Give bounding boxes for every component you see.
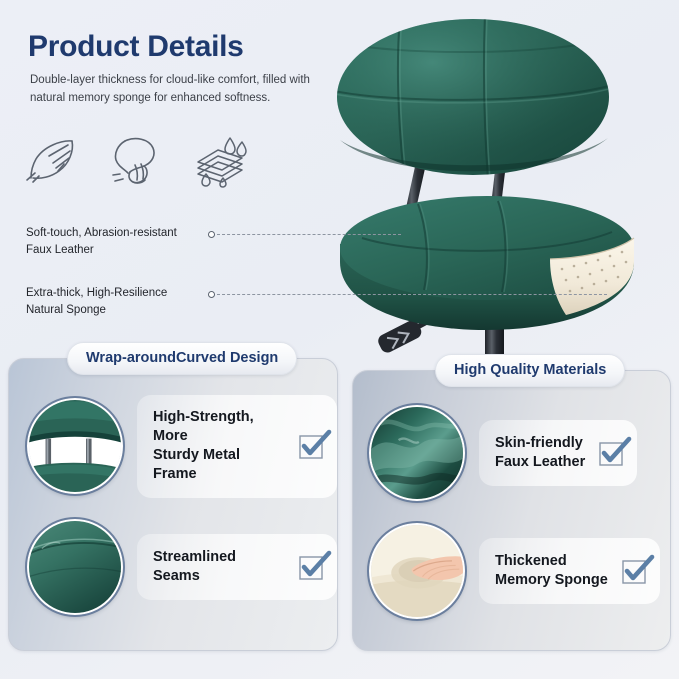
feature-line-2: Memory Sponge [495, 572, 608, 588]
checkmark-icon [298, 552, 328, 582]
feature-line-1: Thickened [495, 553, 567, 569]
panel-title-wrap-around: Wrap-aroundCurved Design [67, 342, 297, 375]
product-photo-chair [300, 12, 679, 372]
wipe-clean-icon [104, 132, 166, 188]
feature-label-faux-leather: Skin-friendly Faux Leather [479, 420, 637, 486]
page-subtitle: Double-layer thickness for cloud-like co… [30, 72, 320, 108]
natural-sponge-callout: Extra-thick, High-Resilience Natural Spo… [26, 285, 216, 320]
checkmark-icon [298, 431, 328, 461]
feature-line-2: Sturdy Metal Frame [153, 447, 240, 482]
feature-label-memory-sponge: Thickened Memory Sponge [479, 538, 660, 604]
feature-icon-row [22, 132, 262, 188]
metal-frame-photo [27, 398, 123, 494]
leather-texture-photo [369, 405, 465, 501]
water-resistant-layers-icon [190, 132, 252, 188]
feature-line-1: High-Strength, More [153, 409, 254, 444]
feature-label-metal-frame: High-Strength, More Sturdy Metal Frame [137, 395, 337, 498]
panel-title-high-quality-materials: High Quality Materials [435, 354, 625, 387]
feature-row-metal-frame: High-Strength, More Sturdy Metal Frame [27, 395, 337, 498]
checkmark-icon [598, 438, 628, 468]
panel-high-quality-materials: High Quality Materials [352, 370, 671, 651]
callout-line-1: Extra-thick, High-Resilience [26, 285, 216, 302]
faux-leather-callout: Soft-touch, Abrasion-resistant Faux Leat… [26, 225, 216, 260]
panel-wrap-around-curved-design: Wrap-aroundCurved Design H [8, 358, 338, 651]
callout-line-2: Natural Sponge [26, 302, 216, 319]
checkmark-icon [621, 556, 651, 586]
callout-marker-sponge [208, 291, 215, 298]
memory-foam-photo [369, 523, 465, 619]
feature-row-streamlined-seams: Streamlined Seams [27, 519, 337, 615]
feature-row-faux-leather: Skin-friendly Faux Leather [369, 405, 637, 501]
page-title: Product Details [28, 30, 244, 64]
callout-marker-leather [208, 231, 215, 238]
feature-line-1: Skin-friendly [495, 435, 583, 451]
callout-leader-sponge [217, 294, 607, 295]
seams-photo [27, 519, 123, 615]
feature-label-streamlined-seams: Streamlined Seams [137, 534, 337, 600]
callout-line-2: Faux Leather [26, 242, 216, 259]
feather-icon [22, 132, 84, 188]
product-details-infographic: Product Details Double-layer thickness f… [0, 0, 679, 679]
callout-leader-leather [217, 234, 401, 235]
feature-line-1: Streamlined Seams [153, 549, 236, 584]
feature-line-2: Faux Leather [495, 454, 585, 470]
callout-line-1: Soft-touch, Abrasion-resistant [26, 225, 216, 242]
feature-row-memory-sponge: Thickened Memory Sponge [369, 523, 660, 619]
